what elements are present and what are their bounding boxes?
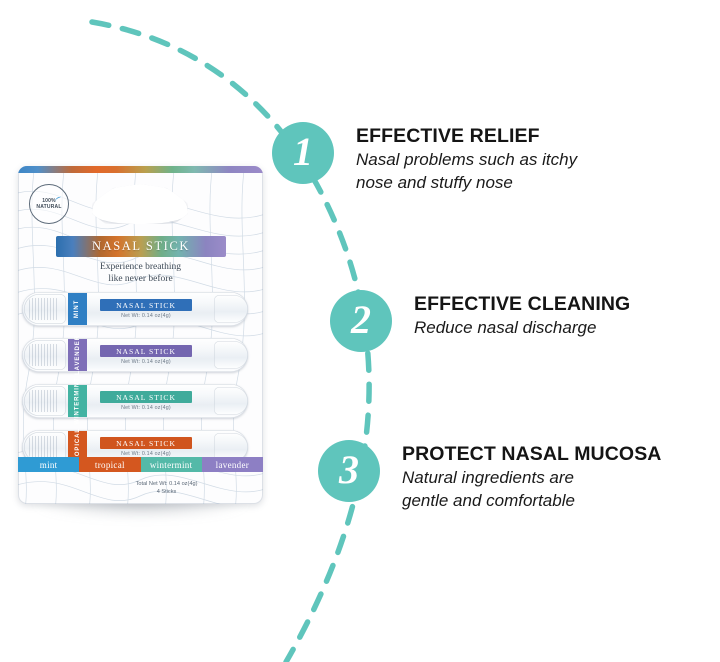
tube-flavor-band: Wintermint [68,385,87,417]
leaf-icon [54,196,62,204]
brand-name: NASAL STICK [92,239,190,254]
package-footer: Total Net Wt: 0.14 oz(4g) 4 Sticks [18,480,263,496]
benefit-text-1: EFFECTIVE RELIEF Nasal problems such as … [334,122,577,194]
tube-lavender: Lavender NASAL STICK Net Wt: 0.14 oz(4g) [22,338,248,372]
tube-flavor-label: Mint [74,300,80,318]
benefit-title-2: EFFECTIVE CLEANING [414,292,630,316]
tube-stack: Mint NASAL STICK Net Wt: 0.14 oz(4g) Lav… [22,292,260,468]
benefits-list: 1 EFFECTIVE RELIEF Nasal problems such a… [268,0,720,662]
benefit-desc-3-line-1: Natural ingredients are [402,467,661,489]
natural-badge: 100% NATURAL [29,184,69,224]
benefit-title-1: EFFECTIVE RELIEF [356,124,577,148]
tagline-line-1: Experience breathing [18,261,263,273]
total-net-weight: Total Net Wt: 0.14 oz(4g) [18,480,263,488]
benefit-number-badge-1: 1 [272,122,334,184]
tube-tip [214,295,248,323]
benefit-number-badge-3: 3 [318,440,380,502]
flavor-chip-mint: mint [18,457,79,472]
tube-brand-label: NASAL STICK [100,345,192,357]
tube-brand-label: NASAL STICK [100,299,192,311]
benefit-item-2: 2 EFFECTIVE CLEANING Reduce nasal discha… [330,290,630,352]
tube-brand-label: NASAL STICK [100,437,192,449]
benefit-desc-3-line-2: gentle and comfortable [402,490,661,512]
tube-wintermint: Wintermint NASAL STICK Net Wt: 0.14 oz(4… [22,384,248,418]
benefit-number-badge-2: 2 [330,290,392,352]
package-gradient-strip [18,166,263,173]
stick-count: 4 Sticks [18,488,263,496]
flavor-chip-tropical: tropical [79,457,140,472]
benefit-desc-1-line-1: Nasal problems such as itchy [356,149,577,171]
tagline-line-2: like never before [18,273,263,285]
flavor-chip-lavender: lavender [202,457,263,472]
tube-tip [214,341,248,369]
blister-package: 100% NATURAL NASAL STICK Experience brea… [18,166,263,504]
benefit-item-3: 3 PROTECT NASAL MUCOSA Natural ingredien… [318,440,661,512]
tube-flavor-band: Lavender [68,339,87,371]
badge-natural-label: NATURAL [36,204,61,210]
tube-cap [24,386,66,416]
tube-net-weight: Net Wt: 0.14 oz(4g) [100,313,192,319]
tube-brand-label: NASAL STICK [100,391,192,403]
flavor-chip-wintermint: wintermint [141,457,202,472]
product-package-image: 100% NATURAL NASAL STICK Experience brea… [18,166,266,512]
infographic-canvas: 100% NATURAL NASAL STICK Experience brea… [0,0,720,662]
tube-cap [24,294,66,324]
benefit-title-3: PROTECT NASAL MUCOSA [402,442,661,466]
flavor-color-bar: mint tropical wintermint lavender [18,457,263,472]
benefit-text-3: PROTECT NASAL MUCOSA Natural ingredients… [380,440,661,512]
tube-tip [214,387,248,415]
tube-mint: Mint NASAL STICK Net Wt: 0.14 oz(4g) [22,292,248,326]
tube-flavor-label: Lavender [75,335,81,375]
tube-flavor-label: Wintermint [75,377,81,424]
tube-net-weight: Net Wt: 0.14 oz(4g) [100,405,192,411]
tube-cap [24,340,66,370]
benefit-desc-1-line-2: nose and stuffy nose [356,172,577,194]
benefit-item-1: 1 EFFECTIVE RELIEF Nasal problems such a… [272,122,577,194]
benefit-text-2: EFFECTIVE CLEANING Reduce nasal discharg… [392,290,630,339]
product-tagline: Experience breathing like never before [18,261,263,285]
brand-banner: NASAL STICK [56,236,226,257]
tube-flavor-band: Mint [68,293,87,325]
tube-net-weight: Net Wt: 0.14 oz(4g) [100,359,192,365]
benefit-desc-2-line-1: Reduce nasal discharge [414,317,630,339]
